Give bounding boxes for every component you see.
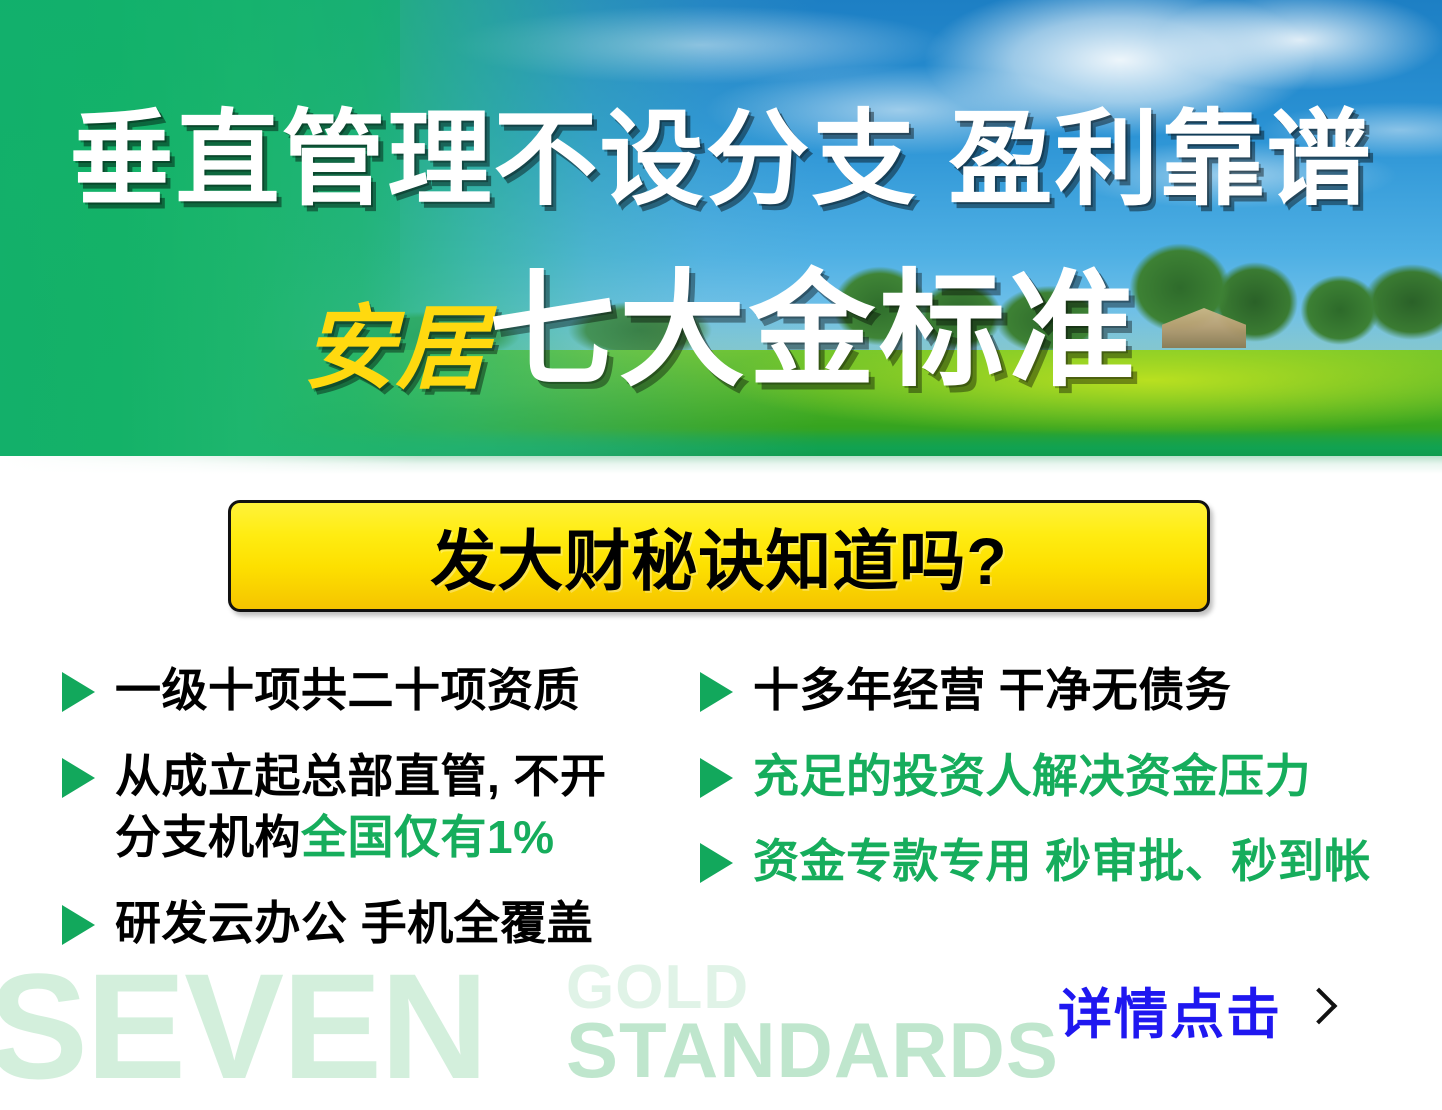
triangle-bullet-icon: [62, 758, 95, 798]
list-item-label: 资金专款专用 秒审批、秒到帐: [753, 831, 1371, 893]
list-item: 从成立起总部直管, 不开 分支机构全国仅有1%: [62, 746, 702, 869]
triangle-bullet-icon: [700, 672, 733, 712]
hero-headline-primary: 垂直管理不设分支 盈利靠谱: [0, 108, 1442, 212]
triangle-bullet-icon: [62, 905, 95, 945]
highlight-question-banner[interactable]: 发大财秘诀知道吗?: [228, 500, 1210, 612]
chevron-right-icon: [1304, 984, 1332, 1036]
details-cta-button[interactable]: 详情点击: [1058, 970, 1332, 1049]
hero-bottom-fade: [0, 456, 1442, 474]
hero-banner: 垂直管理不设分支 盈利靠谱 安居七大金标准: [0, 0, 1442, 456]
list-item-label-line2-plain: 分支机构: [115, 811, 301, 863]
list-item: 资金专款专用 秒审批、秒到帐: [700, 831, 1420, 893]
hero-headline-main-text: 七大金标准: [489, 260, 1139, 401]
triangle-bullet-icon: [700, 843, 733, 883]
list-item: 充足的投资人解决资金压力: [700, 746, 1420, 808]
feature-list-right-column: 十多年经营 干净无债务 充足的投资人解决资金压力 资金专款专用 秒审批、秒到帐: [700, 660, 1420, 917]
list-item-label: 一级十项共二十项资质: [115, 660, 580, 722]
list-item-label: 从成立起总部直管, 不开 分支机构全国仅有1%: [115, 746, 607, 869]
list-item-label-line1: 从成立起总部直管, 不开: [115, 750, 607, 802]
triangle-bullet-icon: [62, 672, 95, 712]
feature-list-left-column: 一级十项共二十项资质 从成立起总部直管, 不开 分支机构全国仅有1% 研发云办公…: [62, 660, 702, 979]
list-item-label: 研发云办公 手机全覆盖: [115, 893, 593, 955]
list-item: 一级十项共二十项资质: [62, 660, 702, 722]
triangle-bullet-icon: [700, 758, 733, 798]
details-cta-label: 详情点击: [1058, 970, 1282, 1049]
watermark-standards-text: STANDARDS: [566, 1011, 1059, 1089]
list-item-label: 充足的投资人解决资金压力: [753, 746, 1311, 808]
list-item-label: 十多年经营 干净无债务: [753, 660, 1231, 722]
list-item: 十多年经营 干净无债务: [700, 660, 1420, 722]
list-item: 研发云办公 手机全覆盖: [62, 893, 702, 955]
hero-brand-text: 安居: [303, 298, 489, 400]
list-item-label-highlight: 全国仅有1%: [301, 811, 554, 863]
hero-headline-secondary: 安居七大金标准: [0, 268, 1442, 395]
list-item-label-line2: 分支机构全国仅有1%: [115, 807, 607, 869]
highlight-question-text: 发大财秘诀知道吗?: [430, 508, 1007, 604]
